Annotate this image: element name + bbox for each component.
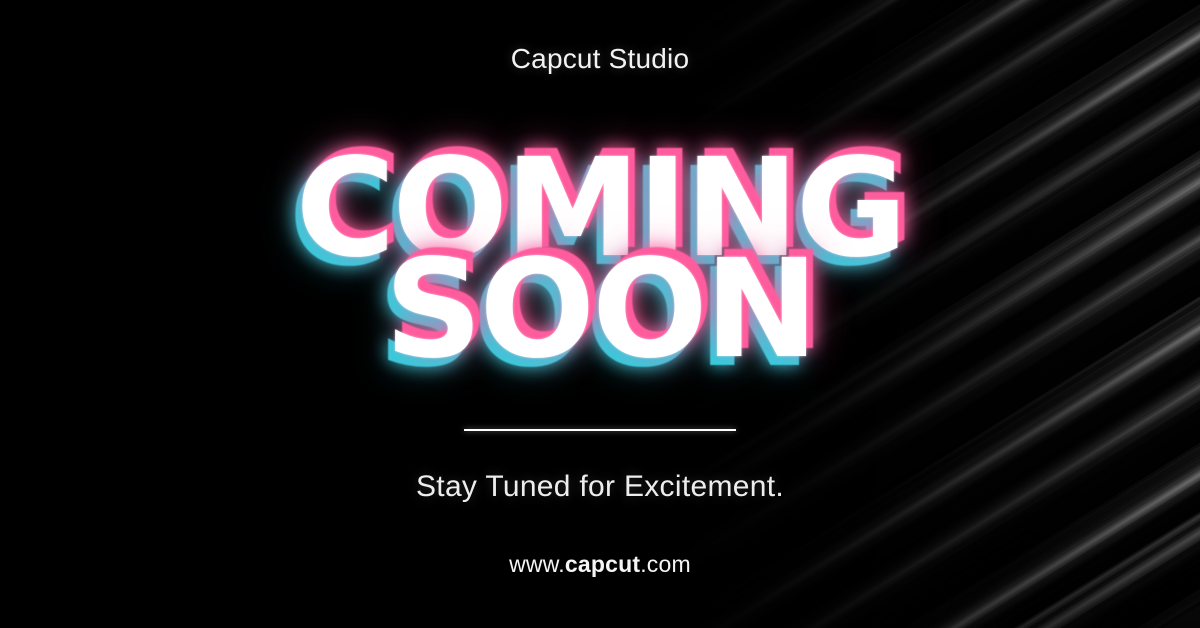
divider-rule: [464, 429, 736, 431]
website-url-suffix: .com: [640, 551, 691, 577]
headline-line-soon-face: SOON: [385, 231, 816, 389]
coming-soon-poster: Capcut Studio COMING COMING COMING SOON …: [0, 0, 1200, 628]
website-url-name: capcut: [565, 551, 640, 577]
website-url-prefix: www.: [509, 551, 565, 577]
brand-name: Capcut Studio: [0, 43, 1200, 75]
website-url[interactable]: www.capcut.com: [0, 551, 1200, 578]
headline-line-soon: SOON SOON SOON: [0, 253, 1200, 368]
headline-block: COMING COMING COMING SOON SOON SOON: [0, 152, 1200, 368]
poster-content: Capcut Studio COMING COMING COMING SOON …: [0, 0, 1200, 628]
tagline-text: Stay Tuned for Excitement.: [0, 470, 1200, 504]
